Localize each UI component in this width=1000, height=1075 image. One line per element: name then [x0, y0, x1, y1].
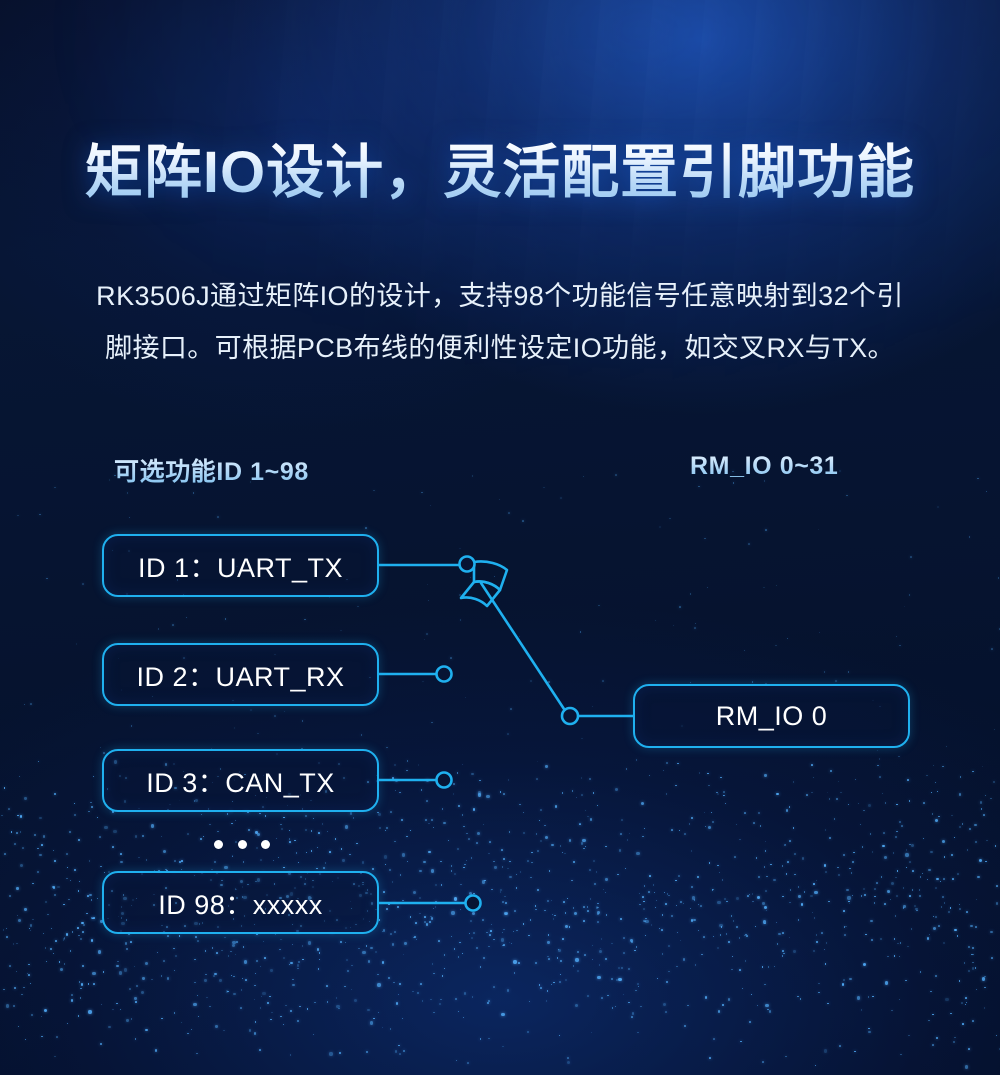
left-column-header: 可选功能ID 1~98 [114, 452, 309, 488]
node-id1[interactable] [460, 557, 475, 572]
node-rmio0-junction[interactable] [562, 708, 578, 724]
function-box-id1[interactable]: ID 1：UART_TX [102, 534, 379, 597]
ellipsis-dot [238, 840, 247, 849]
page-description: RK3506J通过矩阵IO的设计，支持98个功能信号任意映射到32个引脚接口。可… [95, 270, 905, 374]
promo-page: 矩阵IO设计，灵活配置引脚功能 RK3506J通过矩阵IO的设计，支持98个功能… [0, 0, 1000, 1075]
function-box-id3[interactable]: ID 3：CAN_TX [102, 749, 379, 812]
ellipsis-dot [261, 840, 270, 849]
node-id2[interactable] [437, 667, 452, 682]
switch-blade-upper[interactable] [474, 561, 507, 590]
page-title: 矩阵IO设计，灵活配置引脚功能 [0, 136, 1000, 210]
function-box-id2[interactable]: ID 2：UART_RX [102, 643, 379, 706]
background-light-beams [0, 0, 1000, 520]
switch-blade-lower[interactable] [461, 581, 500, 606]
function-box-id98[interactable]: ID 98：xxxxx [102, 871, 379, 934]
ellipsis-indicator [214, 834, 270, 854]
node-id98[interactable] [466, 896, 481, 911]
node-id3[interactable] [437, 773, 452, 788]
right-column-header: RM_IO 0~31 [690, 452, 838, 481]
io-box-rmio0[interactable]: RM_IO 0 [633, 684, 910, 748]
wire-switch-blade-link [481, 583, 566, 712]
ellipsis-dot [214, 840, 223, 849]
